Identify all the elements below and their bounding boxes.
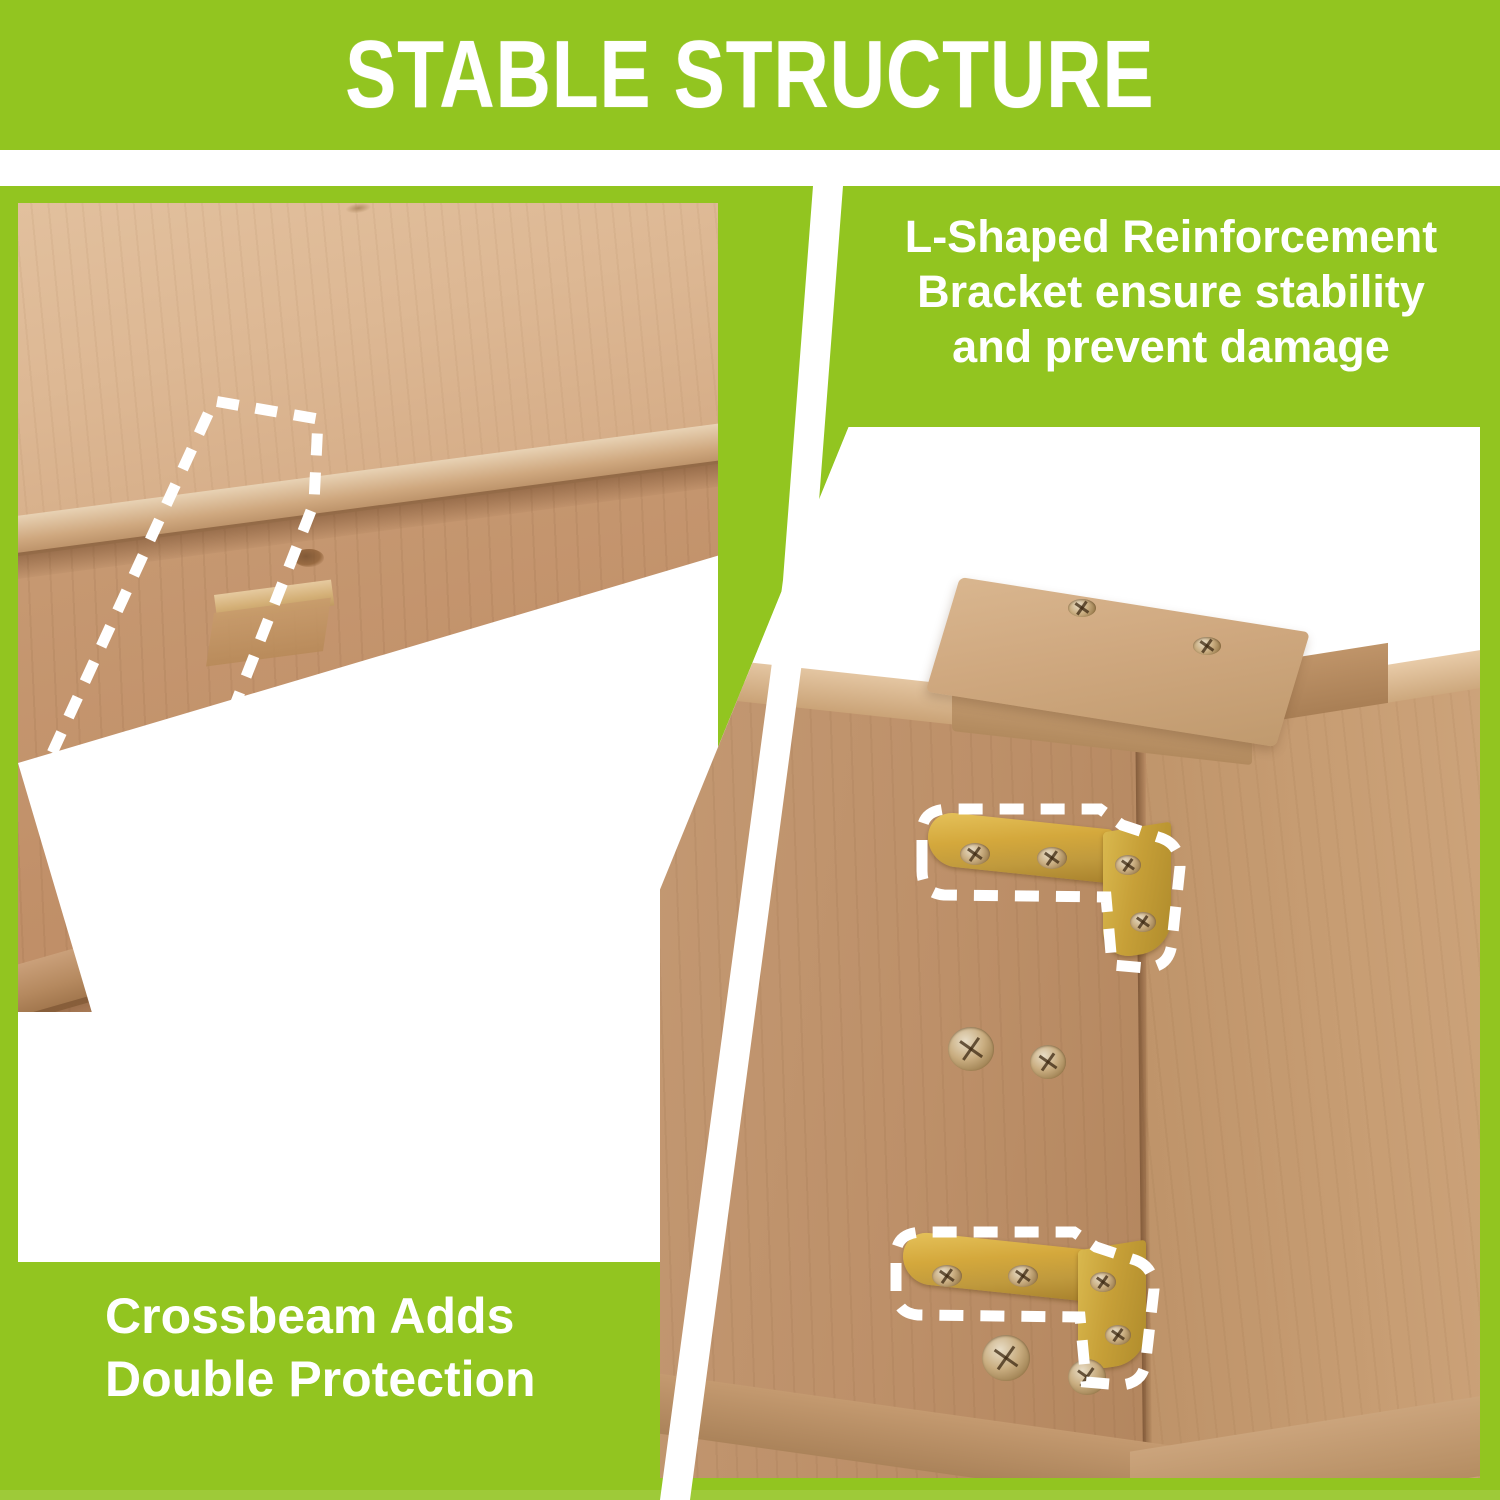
right-heading-line-2: Bracket ensure stability bbox=[862, 265, 1480, 320]
bottom-edge-highlight bbox=[0, 1490, 1500, 1500]
left-caption-line-2: Double Protection bbox=[105, 1348, 536, 1411]
lower-bracket-dashed-outline bbox=[896, 1232, 1154, 1385]
left-product-photo bbox=[18, 203, 718, 1262]
crossbeam-dashed-outline bbox=[36, 401, 318, 973]
page-title: STABLE STRUCTURE bbox=[345, 27, 1154, 123]
upper-bracket-dashed-outline bbox=[922, 809, 1180, 968]
right-heading-line-1: L-Shaped Reinforcement bbox=[862, 210, 1480, 265]
right-heading-line-3: and prevent damage bbox=[862, 320, 1480, 375]
left-panel-caption: Crossbeam Adds Double Protection bbox=[105, 1285, 536, 1411]
left-caption-line-1: Crossbeam Adds bbox=[105, 1285, 536, 1348]
left-photo-annotations bbox=[18, 203, 718, 1262]
header-white-separator bbox=[0, 150, 1500, 186]
right-panel-heading: L-Shaped Reinforcement Bracket ensure st… bbox=[862, 210, 1480, 375]
infographic-poster: L-Shaped Reinforcement Bracket ensure st… bbox=[0, 0, 1500, 1500]
header-banner: STABLE STRUCTURE bbox=[0, 0, 1500, 150]
